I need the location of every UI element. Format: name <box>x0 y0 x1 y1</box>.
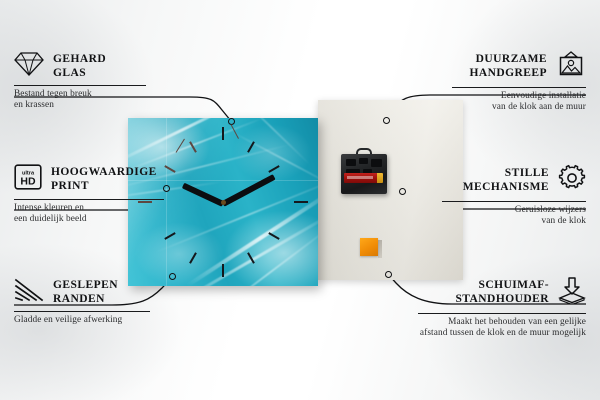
diamond-icon <box>14 52 44 81</box>
callout-marker-standhouder <box>385 271 392 278</box>
picture-hanger-icon <box>556 50 586 83</box>
feature-title: HOOGWAARDIGE PRINT <box>51 166 157 193</box>
down-arrow-pad-icon <box>558 276 586 309</box>
clock-center-pin <box>221 200 226 205</box>
tick-12 <box>222 127 224 140</box>
feature-divider <box>14 199 164 200</box>
callout-marker-handgreep <box>383 117 390 124</box>
feature-subtitle: Bestand tegen breuk en krassen <box>14 89 146 112</box>
feature-subtitle: Geruisloze wijzers van de klok <box>442 205 586 228</box>
feature-title: SCHUIMAF- STANDHOUDER <box>455 279 549 306</box>
feature-divider <box>442 201 586 202</box>
feature-subtitle: Maakt het behouden van een gelijke afsta… <box>418 317 586 340</box>
gear-icon <box>558 164 586 197</box>
tick-3 <box>294 201 308 203</box>
feature-gehard-glas: GEHARD GLAS Bestand tegen breuk en krass… <box>14 52 146 112</box>
feature-divider <box>14 85 146 86</box>
feature-subtitle: Gladde en veilige afwerking <box>14 315 150 326</box>
svg-text:HD: HD <box>20 176 36 188</box>
callout-marker-print <box>163 185 170 192</box>
tick-6 <box>222 264 224 277</box>
feature-subtitle: Intense kleuren en een duidelijk beeld <box>14 203 164 226</box>
foam-standoff-pad <box>360 238 382 260</box>
feature-stille-mechanisme: STILLE MECHANISME Geruisloze wijzers van… <box>442 164 586 228</box>
feature-subtitle: Eenvoudige installatie van de klok aan d… <box>452 91 586 114</box>
feature-hoogwaardige-print: ultra HD HOOGWAARDIGE PRINT Intense kleu… <box>14 164 164 226</box>
quartz-mechanism <box>341 148 387 194</box>
ultra-hd-badge-icon: ultra HD <box>14 164 42 195</box>
feature-schuimaf-standhouder: SCHUIMAF- STANDHOUDER Maakt het behouden… <box>418 276 586 340</box>
feature-duurzame-handgreep: DUURZAME HANDGREEP Eenvoudige installati… <box>452 50 586 114</box>
feature-geslepen-randen: GESLEPEN RANDEN Gladde en veilige afwerk… <box>14 278 150 326</box>
feature-title: GESLEPEN RANDEN <box>53 279 118 306</box>
infographic-canvas: GEHARD GLAS Bestand tegen breuk en krass… <box>0 0 600 400</box>
feature-title: STILLE MECHANISME <box>463 167 549 194</box>
beveled-edge-lines-icon <box>14 278 44 307</box>
callout-marker-randen <box>169 273 176 280</box>
feature-title: DUURZAME HANDGREEP <box>469 53 547 80</box>
product-illustration <box>128 100 463 295</box>
feature-divider <box>14 311 150 312</box>
feature-divider <box>452 87 586 88</box>
feature-title: GEHARD GLAS <box>53 53 106 80</box>
callout-marker-mechanisme <box>399 188 406 195</box>
feature-divider <box>418 313 586 314</box>
